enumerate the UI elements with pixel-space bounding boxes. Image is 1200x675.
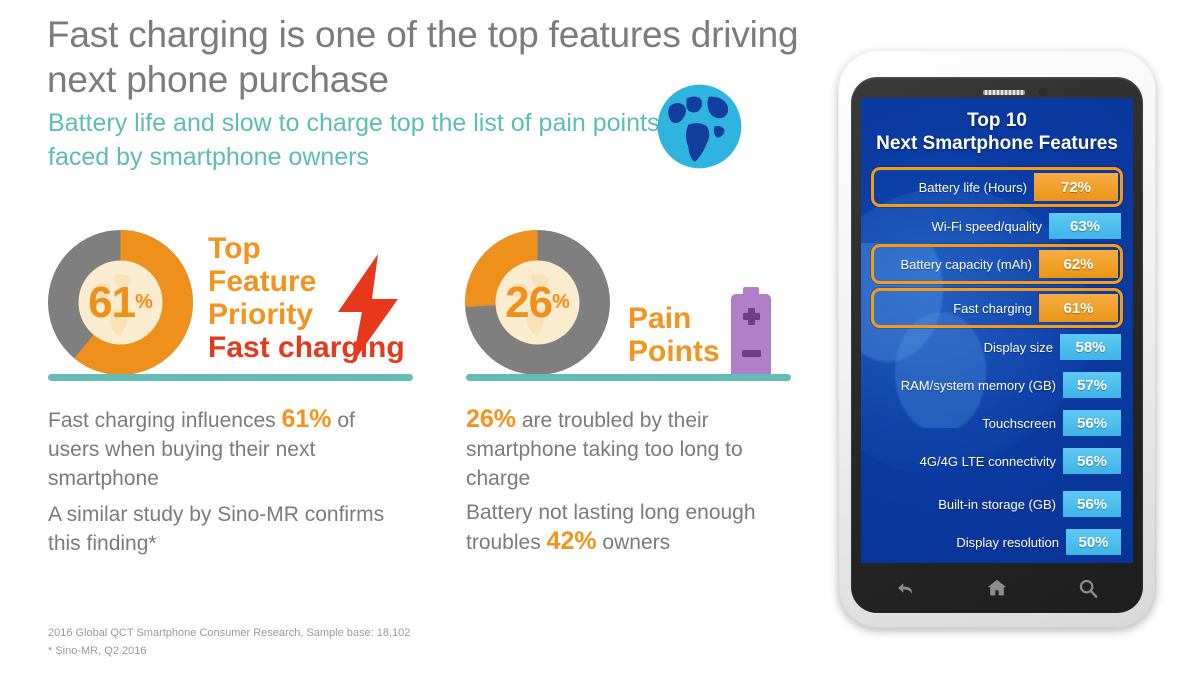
search-icon[interactable]	[1077, 577, 1099, 599]
feature-value-bar: 61%	[1039, 294, 1118, 322]
panel-b-copy-2: Battery not lasting long enough troubles…	[466, 498, 806, 557]
panel-a-copy-1: Fast charging influences 61% of users wh…	[48, 405, 393, 493]
feature-label: Wi-Fi speed/quality	[873, 219, 1049, 234]
panel-b-title-line1: Pain	[628, 302, 720, 335]
feature-label: Battery life (Hours)	[876, 180, 1034, 195]
feature-label: RAM/system memory (GB)	[873, 378, 1063, 393]
feature-row[interactable]: RAM/system memory (GB)57%	[871, 365, 1123, 405]
front-camera-icon	[1039, 88, 1047, 96]
donut-number: 26	[505, 281, 552, 325]
globe-icon	[653, 80, 746, 173]
panel-a-copy-2: A similar study by Sino-MR confirms this…	[48, 500, 393, 558]
feature-label: Fast charging	[876, 301, 1039, 316]
divider-a	[48, 374, 413, 381]
feature-list: Battery life (Hours)72%Wi-Fi speed/quali…	[861, 167, 1133, 557]
infographic-slide: Fast charging is one of the top features…	[0, 0, 1200, 675]
feature-row[interactable]: Battery life (Hours)72%	[871, 167, 1123, 207]
feature-label: Display size	[873, 340, 1060, 355]
page-subtitle: Battery life and slow to charge top the …	[48, 106, 668, 174]
donut-chart-61: 61%	[48, 230, 193, 375]
panel-b-copy-1-num: 26%	[466, 405, 516, 433]
speaker-grille-icon	[983, 90, 1025, 95]
screen-title: Top 10 Next Smartphone Features	[861, 109, 1133, 155]
feature-row[interactable]: Fast charging61%	[871, 288, 1123, 328]
feature-value-bar: 58%	[1060, 334, 1121, 360]
footnote-line-1: 2016 Global QCT Smartphone Consumer Rese…	[48, 624, 568, 642]
panel-b-title-line2: Points	[628, 335, 720, 368]
feature-label: Touchscreen	[873, 416, 1063, 431]
feature-row[interactable]: Touchscreen56%	[871, 408, 1123, 438]
feature-value-bar: 56%	[1063, 410, 1121, 436]
panel-b-copy-2-post: owners	[597, 531, 671, 554]
feature-value-bar: 63%	[1049, 213, 1121, 239]
donut-value-61: 61%	[48, 230, 193, 375]
panel-b-copy-2-num: 42%	[547, 527, 597, 555]
donut-value-26: 26%	[465, 230, 610, 375]
phone-navbar	[861, 566, 1133, 610]
panel-b-copy-1: 26% are troubled by their smartphone tak…	[466, 405, 806, 493]
feature-row[interactable]: Battery capacity (mAh)62%	[871, 244, 1123, 284]
donut-percent-sign: %	[135, 291, 153, 314]
phone-screen: Top 10 Next Smartphone Features Battery …	[861, 98, 1133, 563]
feature-row[interactable]: 4G/4G LTE connectivity56%	[871, 441, 1123, 481]
lightning-bolt-icon	[338, 254, 398, 369]
feature-value-bar: 50%	[1066, 529, 1121, 555]
feature-row[interactable]: Display size58%	[871, 332, 1123, 362]
feature-value-bar: 56%	[1063, 491, 1121, 517]
divider-b	[466, 374, 791, 381]
donut-percent-sign: %	[552, 291, 570, 314]
panel-a-copy-1-num: 61%	[281, 405, 331, 433]
donut-number: 61	[88, 281, 135, 325]
feature-label: Display resolution	[873, 535, 1066, 550]
feature-value-bar: 57%	[1063, 372, 1121, 398]
feature-value-bar: 56%	[1063, 448, 1121, 474]
back-icon[interactable]	[895, 577, 917, 599]
footnote: 2016 Global QCT Smartphone Consumer Rese…	[48, 624, 568, 660]
feature-row[interactable]: Built-in storage (GB)56%	[871, 484, 1123, 524]
feature-label: 4G/4G LTE connectivity	[873, 454, 1063, 469]
home-icon[interactable]	[986, 577, 1008, 599]
panel-b-title: Pain Points	[628, 302, 720, 368]
feature-value-bar: 62%	[1039, 250, 1118, 278]
donut-chart-26: 26%	[465, 230, 610, 375]
phone-mockup: Top 10 Next Smartphone Features Battery …	[838, 50, 1156, 628]
feature-label: Built-in storage (GB)	[873, 497, 1063, 512]
panel-a-copy-1-pre: Fast charging influences	[48, 409, 281, 432]
feature-label: Battery capacity (mAh)	[876, 257, 1039, 272]
battery-icon	[728, 287, 774, 384]
screen-title-line2: Next Smartphone Features	[861, 132, 1133, 155]
footnote-line-2: * Sino-MR, Q2 2016	[48, 642, 568, 660]
feature-row[interactable]: Wi-Fi speed/quality63%	[871, 211, 1123, 241]
feature-row[interactable]: Display resolution50%	[871, 527, 1123, 557]
screen-title-line1: Top 10	[861, 109, 1133, 132]
feature-value-bar: 72%	[1034, 173, 1118, 201]
